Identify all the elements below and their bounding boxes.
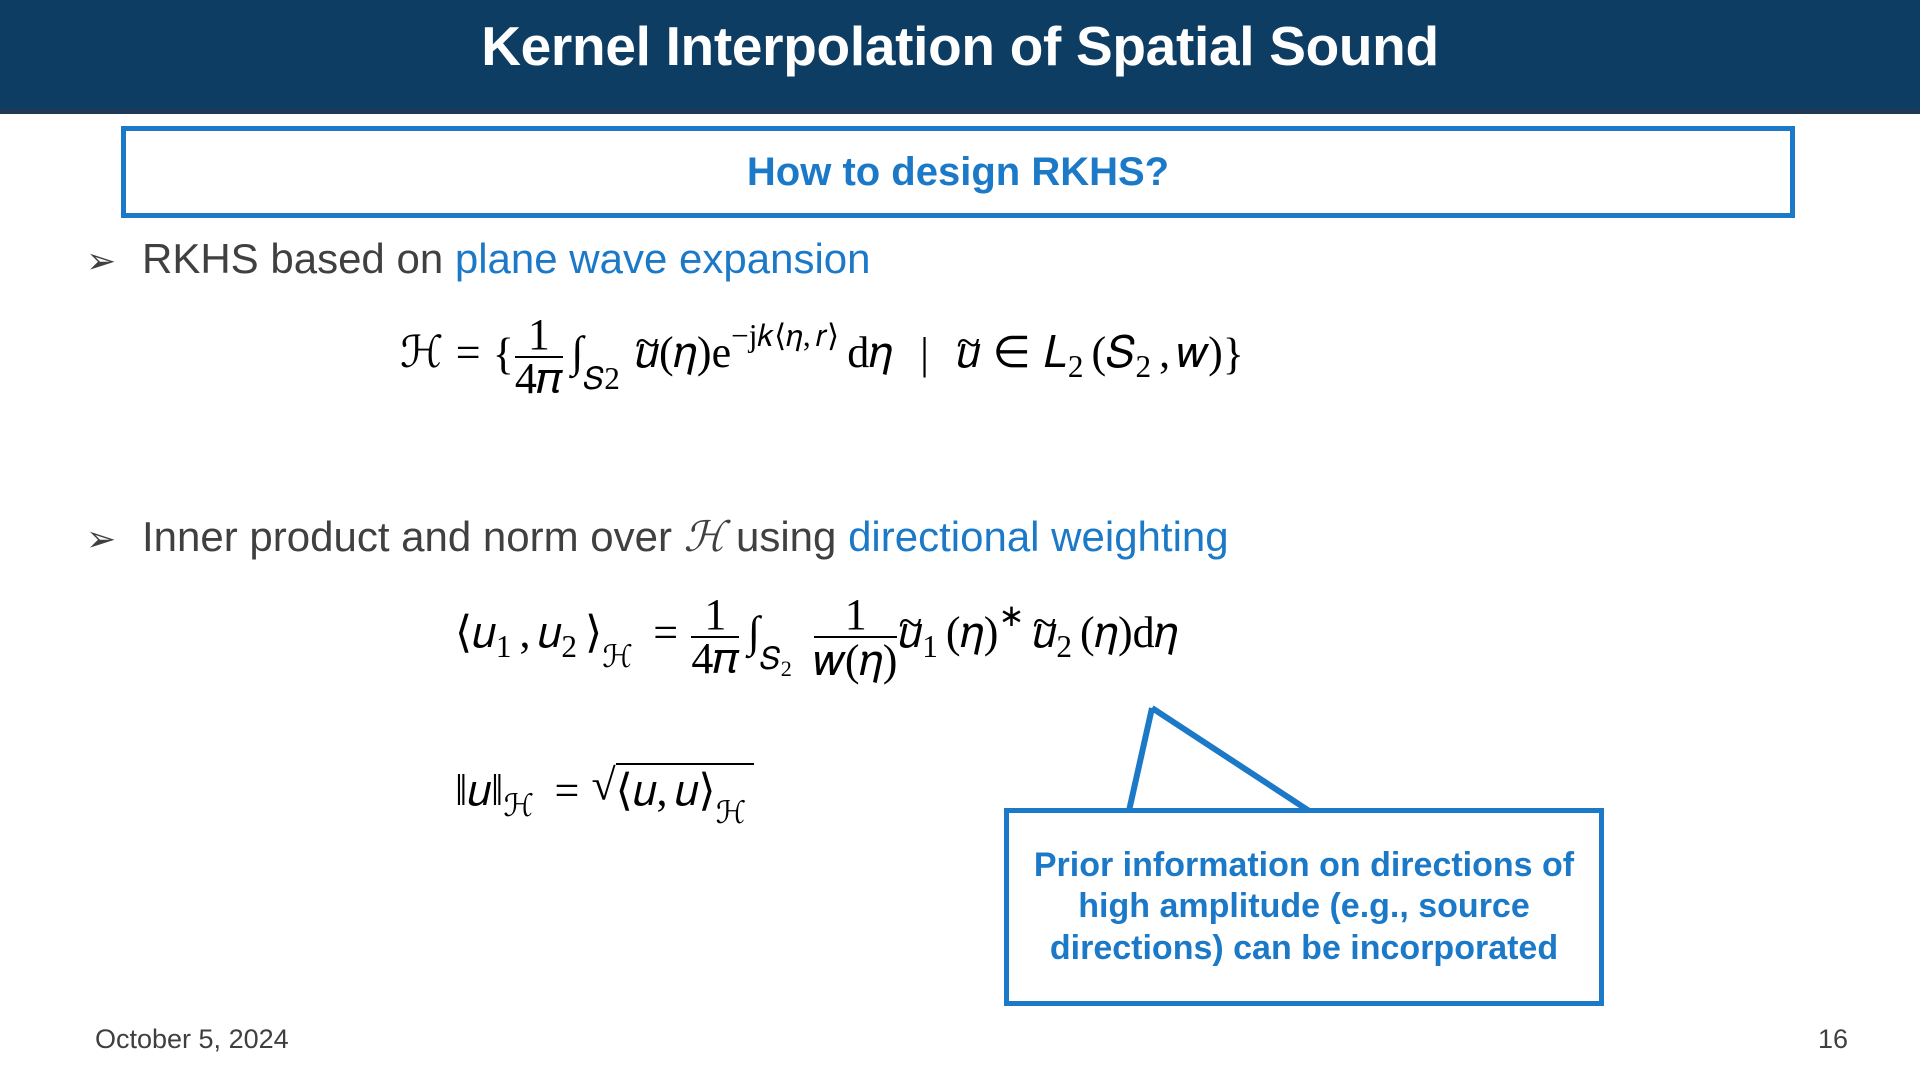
equation-inner-product: ⟨ u1, u2 ⟩ ℋ = 14π ∫ S2 1 w(η)	[455, 600, 1178, 685]
footer-date: October 5, 2024	[95, 1024, 289, 1055]
section-heading-label: How to design RKHS?	[747, 150, 1169, 195]
footer-page-number: 16	[1818, 1024, 1848, 1055]
slide-header-underline	[0, 109, 1920, 114]
bullet-2-lead: Inner product and norm over	[142, 513, 684, 560]
page-title: Kernel Interpolation of Spatial Sound	[0, 14, 1920, 78]
bullet-2-highlight: directional weighting	[848, 513, 1229, 560]
callout-box: Prior information on directions of high …	[1004, 808, 1604, 1006]
script-h-symbol: ℋ	[684, 512, 725, 561]
arrow-bullet-icon: ➢	[86, 521, 142, 557]
bullet-item-1: ➢ RKHS based on plane wave expansion	[86, 236, 871, 282]
bullet-1-highlight: plane wave expansion	[455, 235, 871, 282]
bullet-item-2-text: Inner product and norm over ℋ using dire…	[142, 514, 1229, 560]
section-heading-box: How to design RKHS?	[121, 126, 1795, 218]
bullet-item-1-text: RKHS based on plane wave expansion	[142, 236, 871, 282]
equation-rkhs-definition: ℋ = { 14π ∫ S2 u~ (η) e	[400, 320, 1244, 393]
bullet-item-2: ➢ Inner product and norm over ℋ using di…	[86, 514, 1229, 560]
bullet-1-lead: RKHS based on	[142, 235, 455, 282]
callout-text: Prior information on directions of high …	[1009, 845, 1599, 969]
bullet-2-mid: using	[724, 513, 848, 560]
slide-canvas: Kernel Interpolation of Spatial Sound Ho…	[0, 0, 1920, 1080]
arrow-bullet-icon: ➢	[86, 243, 142, 279]
equation-norm: ‖u‖ ℋ = ⟨u,u⟩ ℋ	[455, 760, 754, 824]
